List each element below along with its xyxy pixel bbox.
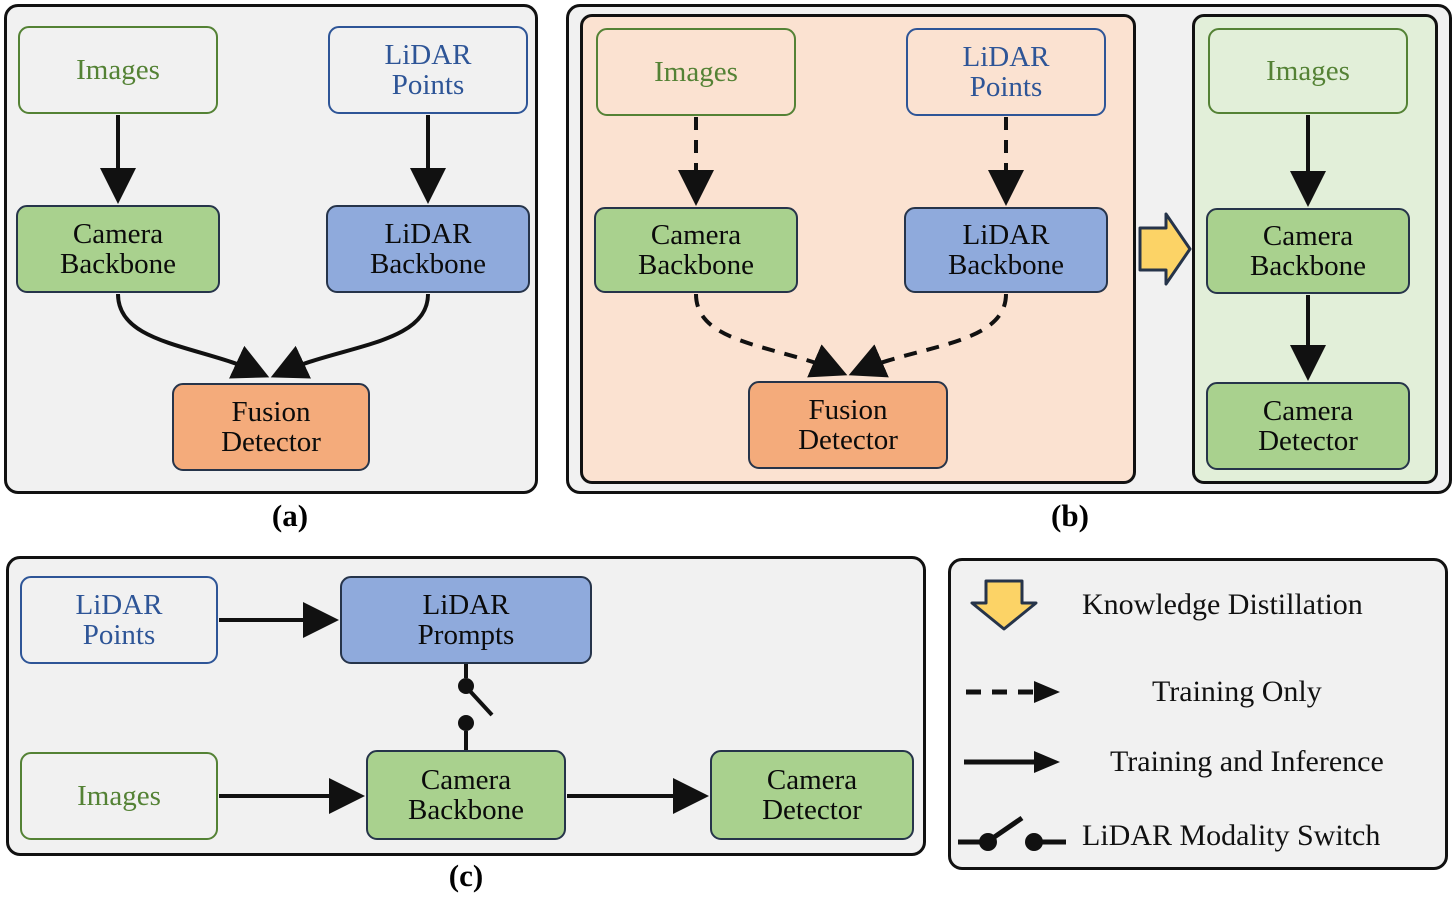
switch-icon xyxy=(958,808,1078,864)
legend-label: Knowledge Distillation xyxy=(1082,588,1363,622)
solid-arrow-icon xyxy=(962,734,1082,790)
legend-label: LiDAR Modality Switch xyxy=(1082,819,1380,853)
knowledge-distillation-arrow-icon xyxy=(962,577,1082,633)
panel-a-node-fusion-detector: Fusion Detector xyxy=(172,383,370,471)
legend-item-training-and-inference: Training and Inference xyxy=(962,732,1440,792)
panel-b-student-node-camera-backbone: Camera Backbone xyxy=(1206,208,1410,294)
panel-b-node-fusion-detector: Fusion Detector xyxy=(748,381,948,469)
panel-b-node-lidar-points: LiDAR Points xyxy=(906,28,1106,116)
panel-b-node-camera-backbone: Camera Backbone xyxy=(594,207,798,293)
panel-c-node-camera-backbone: Camera Backbone xyxy=(366,750,566,840)
panel-a-node-images: Images xyxy=(18,26,218,114)
panel-c-node-lidar-prompts: LiDAR Prompts xyxy=(340,576,592,664)
panel-b-node-images: Images xyxy=(596,28,796,116)
legend-label: Training and Inference xyxy=(1110,745,1384,779)
legend-item-knowledge-distillation: Knowledge Distillation xyxy=(962,568,1440,642)
panel-b-node-lidar-backbone: LiDAR Backbone xyxy=(904,207,1108,293)
panel-c-node-camera-detector: Camera Detector xyxy=(710,750,914,840)
panel-c-node-lidar-points: LiDAR Points xyxy=(20,576,218,664)
panel-c-label: (c) xyxy=(406,858,526,894)
panel-b-student-node-images: Images xyxy=(1208,28,1408,114)
panel-b-student-node-camera-detector: Camera Detector xyxy=(1206,382,1410,470)
panel-b-label: (b) xyxy=(1010,498,1130,534)
panel-a-node-lidar-backbone: LiDAR Backbone xyxy=(326,205,530,293)
legend-item-training-only: Training Only xyxy=(962,662,1440,722)
dashed-arrow-icon xyxy=(962,664,1082,720)
legend-item-lidar-modality-switch: LiDAR Modality Switch xyxy=(958,806,1446,866)
panel-a-node-lidar-points: LiDAR Points xyxy=(328,26,528,114)
panel-a-node-camera-backbone: Camera Backbone xyxy=(16,205,220,293)
panel-c-node-images: Images xyxy=(20,752,218,840)
legend-label: Training Only xyxy=(1152,675,1322,709)
panel-a-label: (a) xyxy=(230,498,350,534)
